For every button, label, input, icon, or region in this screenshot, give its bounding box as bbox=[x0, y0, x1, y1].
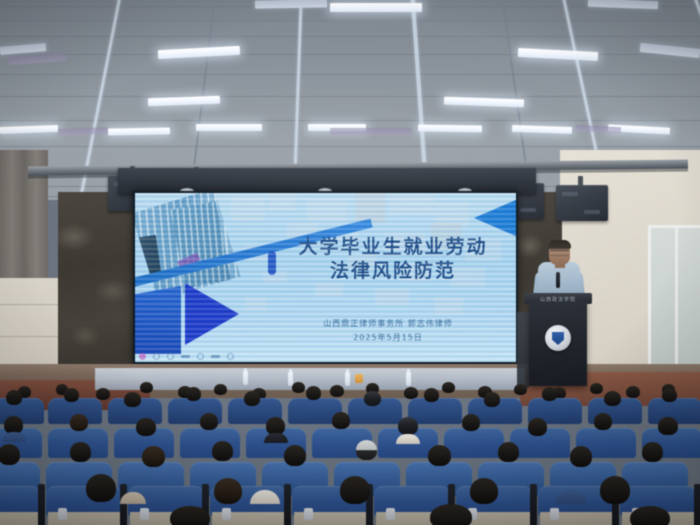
microphone-icon bbox=[556, 272, 560, 288]
eyeglasses-icon bbox=[550, 250, 569, 256]
ceiling-tile-seam bbox=[0, 20, 700, 21]
crest-shield bbox=[552, 332, 564, 345]
slide-subtitle: 山西鼎正律师事务所 郭志伟律师 bbox=[265, 317, 511, 331]
audience-head-nearest bbox=[430, 504, 472, 525]
audience-head bbox=[330, 385, 344, 397]
audience-head-foreground bbox=[214, 478, 242, 504]
audience-head bbox=[292, 382, 305, 393]
ceiling-tile-seam bbox=[0, 120, 700, 121]
audience-head bbox=[398, 417, 418, 435]
audience-area bbox=[0, 382, 700, 525]
audience-head bbox=[658, 417, 678, 435]
wall-panel-seam bbox=[0, 304, 60, 305]
audience-shoulder bbox=[2, 432, 26, 442]
audience-head bbox=[6, 390, 22, 405]
audience-head bbox=[136, 418, 156, 436]
ceiling-panel-light bbox=[255, 0, 327, 9]
audience-head bbox=[642, 442, 663, 462]
ceiling-panel-light bbox=[196, 124, 262, 131]
audience-head bbox=[332, 412, 350, 429]
seat-number-clip bbox=[58, 508, 67, 520]
audience-head-foreground bbox=[340, 476, 370, 504]
audience-head bbox=[186, 387, 201, 401]
seat-lower-panel bbox=[0, 512, 38, 525]
audience-head bbox=[364, 391, 381, 406]
audience-head-nearest bbox=[630, 506, 670, 525]
audience-head bbox=[428, 445, 451, 466]
slide-date: 2025年5月15日 bbox=[265, 332, 511, 343]
ceiling-panel-light bbox=[148, 96, 220, 107]
audience-head-foreground bbox=[600, 476, 630, 504]
circle-icon[interactable] bbox=[167, 353, 174, 360]
stage-light bbox=[556, 185, 608, 221]
audience-head bbox=[70, 414, 88, 431]
slide-backdrop-patch bbox=[307, 199, 347, 221]
audience-head bbox=[214, 384, 227, 395]
bar-icon[interactable] bbox=[181, 355, 190, 358]
speaker-hair bbox=[548, 240, 571, 249]
circle-icon[interactable] bbox=[153, 353, 160, 360]
audience-head bbox=[140, 382, 153, 393]
slide-title-line1: 大学毕业生就业劳动 bbox=[275, 235, 511, 259]
ceiling-panel-light bbox=[0, 125, 58, 134]
circle-icon[interactable] bbox=[227, 353, 234, 360]
audience-head-foreground bbox=[86, 474, 116, 502]
slide-title: 大学毕业生就业劳动 法律风险防范 bbox=[275, 235, 511, 283]
seat-armrest-divider bbox=[530, 484, 537, 525]
seat-number-clip bbox=[304, 508, 313, 520]
audience-head-foreground bbox=[470, 478, 498, 504]
lecture-hall-photo: 大学毕业生就业劳动 法律风险防范 山西鼎正律师事务所 郭志伟律师 2025年5月… bbox=[0, 0, 700, 525]
ceiling-panel-light bbox=[640, 43, 700, 58]
audience-head-nearest bbox=[170, 506, 210, 525]
audience-head bbox=[662, 388, 677, 402]
audience-head bbox=[498, 442, 519, 462]
ceiling-panel-light bbox=[158, 46, 240, 59]
audience-head bbox=[542, 387, 557, 401]
audience-head bbox=[70, 442, 91, 462]
podium-front-text: 山西政法学院 bbox=[534, 296, 582, 303]
audience-head bbox=[442, 382, 455, 393]
audience-head bbox=[604, 391, 621, 406]
seat-armrest-divider bbox=[694, 484, 700, 525]
ceiling-panel-light bbox=[518, 48, 598, 61]
seat-armrest-divider bbox=[120, 484, 127, 525]
seat-armrest-divider bbox=[38, 484, 45, 525]
record-dot-icon[interactable] bbox=[139, 353, 146, 360]
audience-shoulder bbox=[264, 433, 288, 443]
ceiling-panel-light bbox=[588, 0, 658, 9]
seat-number-clip bbox=[140, 508, 149, 520]
seat-number-clip bbox=[550, 508, 559, 520]
seat-armrest-divider bbox=[284, 484, 291, 525]
audience-head bbox=[124, 392, 141, 407]
slide-backdrop-patch bbox=[231, 195, 265, 221]
stage-light-vent bbox=[562, 192, 578, 196]
audience-head bbox=[142, 446, 165, 467]
left-marble-column bbox=[58, 192, 136, 372]
audience-head bbox=[200, 413, 218, 430]
university-crest-icon bbox=[545, 325, 571, 351]
ceiling-panel-light bbox=[444, 97, 524, 108]
slide-player-toolbar[interactable] bbox=[139, 352, 234, 360]
corner-triangle-icon bbox=[474, 199, 516, 237]
presentation-slide: 大学毕业生就业劳动 法律风险防范 山西鼎正律师事务所 郭志伟律师 2025年5月… bbox=[135, 193, 516, 362]
audience-head bbox=[64, 388, 79, 402]
slide-backdrop-patch bbox=[315, 283, 343, 297]
ceiling-vent bbox=[58, 127, 108, 136]
podium-side-stand bbox=[517, 312, 529, 388]
ceiling-panel-light bbox=[418, 124, 482, 132]
audience-head bbox=[96, 388, 110, 400]
slide-backdrop-patch bbox=[375, 289, 409, 305]
left-blue-block bbox=[135, 286, 181, 354]
audience-head bbox=[306, 386, 321, 400]
ceiling-vent bbox=[575, 125, 621, 133]
audience-head bbox=[626, 386, 640, 398]
ceiling-tile-seam bbox=[0, 36, 700, 37]
audience-head bbox=[284, 445, 306, 466]
wall-panel-seam bbox=[0, 336, 60, 337]
slide-backdrop-patch bbox=[269, 193, 295, 211]
bar-icon[interactable] bbox=[211, 355, 220, 358]
audience-head bbox=[212, 441, 233, 461]
audience-head bbox=[594, 413, 612, 430]
ceiling-panel-light bbox=[330, 3, 422, 12]
audience-shoulder bbox=[396, 434, 420, 444]
auditorium-seat bbox=[444, 428, 504, 458]
audience-head bbox=[528, 418, 547, 436]
ceiling-panel-light bbox=[108, 127, 170, 135]
slide-backdrop-patch bbox=[389, 195, 435, 215]
seat-number-clip bbox=[222, 508, 231, 520]
audience-head bbox=[514, 384, 527, 395]
ceiling-vent bbox=[330, 128, 412, 135]
slide-title-line2: 法律风险防范 bbox=[275, 259, 511, 283]
audience-head bbox=[484, 392, 500, 407]
circle-icon[interactable] bbox=[197, 353, 204, 360]
stage-light-vent bbox=[520, 208, 536, 212]
led-screen: 大学毕业生就业劳动 法律风险防范 山西鼎正律师事务所 郭志伟律师 2025年5月… bbox=[133, 191, 518, 364]
audience-head bbox=[462, 414, 480, 431]
stage-light-vent bbox=[584, 210, 600, 214]
slide-backdrop-patch bbox=[245, 297, 267, 311]
slide-backdrop-patch bbox=[435, 297, 463, 315]
audience-head bbox=[356, 440, 377, 460]
ceiling-tile-seam bbox=[0, 96, 700, 97]
audience-head bbox=[590, 383, 603, 394]
audience-head bbox=[570, 446, 592, 467]
audience-head bbox=[424, 388, 439, 402]
audience-head bbox=[0, 444, 20, 465]
play-triangle-icon bbox=[185, 283, 239, 345]
seat-number-clip bbox=[386, 508, 395, 520]
audience-head bbox=[244, 391, 260, 406]
